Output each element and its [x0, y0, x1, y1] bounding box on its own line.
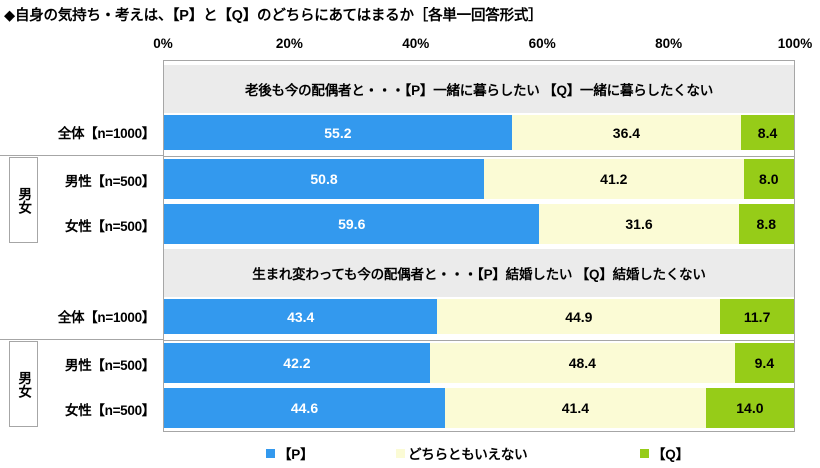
- legend-item-neither[interactable]: どちらともいえない: [396, 443, 527, 463]
- bar-seg-neither-s2-total: 44.9: [437, 299, 720, 334]
- row-label-s1-female: 女性【n=500】: [65, 215, 155, 235]
- bar-row-s2-male: 42.2 48.4 9.4: [164, 343, 794, 383]
- bar-seg-p-s2-male: 42.2: [164, 343, 430, 383]
- group-divider-s1: [0, 155, 163, 156]
- legend-label-q: 【Q】: [652, 443, 689, 463]
- bar-seg-p-s1-total: 55.2: [164, 115, 512, 150]
- bar-row-s1-female: 59.6 31.6 8.8: [164, 204, 794, 244]
- x-axis-tick-60: 60%: [529, 36, 556, 51]
- row-label-s1-male: 男性【n=500】: [65, 170, 155, 190]
- x-axis-tick-40: 40%: [402, 36, 429, 51]
- bar-seg-q-s1-female: 8.8: [739, 204, 794, 244]
- page-title: ◆自身の気持ち・考えは、【P】と【Q】のどちらにあてはまるか［各単一回答形式］: [4, 4, 542, 25]
- legend-swatch-p-icon: [266, 449, 275, 458]
- x-axis-labels: 0% 20% 40% 60% 80% 100%: [163, 36, 795, 56]
- x-axis-tick-80: 80%: [655, 36, 682, 51]
- group-bracket-s1: 男女: [9, 157, 38, 243]
- plot-group-divider-s2: [164, 340, 794, 341]
- row-label-s2-male: 男性【n=500】: [65, 354, 155, 374]
- section-header-1: 老後も今の配偶者と・・・【P】一緒に暮らしたい 【Q】一緒に暮らしたくない: [164, 65, 794, 113]
- row-label-s2-female: 女性【n=500】: [65, 399, 155, 419]
- section-header-2: 生まれ変わっても今の配偶者と・・・【P】結婚したい 【Q】結婚したくない: [164, 249, 794, 297]
- group-bracket-label-s2: 男女: [17, 371, 31, 398]
- section-header-2-label: 生まれ変わっても今の配偶者と・・・【P】結婚したい 【Q】結婚したくない: [252, 263, 705, 283]
- bar-row-s1-male: 50.8 41.2 8.0: [164, 159, 794, 199]
- legend-item-q[interactable]: 【Q】: [640, 443, 689, 463]
- chart-plot-area: 老後も今の配偶者と・・・【P】一緒に暮らしたい 【Q】一緒に暮らしたくない 55…: [163, 60, 795, 432]
- bar-seg-neither-s2-male: 48.4: [430, 343, 735, 383]
- group-divider-s2: [0, 339, 163, 340]
- row-label-s1-total: 全体【n=1000】: [58, 122, 155, 142]
- bar-seg-q-s1-male: 8.0: [744, 159, 794, 199]
- bar-seg-neither-s2-female: 41.4: [445, 388, 706, 428]
- bar-seg-q-s2-female: 14.0: [706, 388, 794, 428]
- legend-swatch-neither-icon: [396, 449, 405, 458]
- legend-item-p[interactable]: 【P】: [266, 443, 313, 463]
- bar-row-s2-total: 43.4 44.9 11.7: [164, 299, 794, 334]
- bar-seg-p-s2-total: 43.4: [164, 299, 437, 334]
- bar-row-s2-female: 44.6 41.4 14.0: [164, 388, 794, 428]
- legend-swatch-q-icon: [640, 449, 649, 458]
- bar-seg-q-s2-total: 11.7: [720, 299, 794, 334]
- bar-seg-p-s2-female: 44.6: [164, 388, 445, 428]
- bar-seg-neither-s1-total: 36.4: [512, 115, 741, 150]
- legend-label-neither: どちらともいえない: [408, 443, 527, 463]
- legend-label-p: 【P】: [278, 443, 313, 463]
- section-header-1-label: 老後も今の配偶者と・・・【P】一緒に暮らしたい 【Q】一緒に暮らしたくない: [245, 79, 713, 99]
- bar-seg-p-s1-female: 59.6: [164, 204, 539, 244]
- x-axis-tick-100: 100%: [778, 36, 813, 51]
- x-axis-tick-0: 0%: [153, 36, 173, 51]
- plot-group-divider-s1: [164, 156, 794, 157]
- chart-legend: 【P】 どちらともいえない 【Q】: [0, 443, 820, 465]
- bar-seg-q-s2-male: 9.4: [735, 343, 794, 383]
- bar-seg-neither-s1-male: 41.2: [484, 159, 744, 199]
- bar-seg-p-s1-male: 50.8: [164, 159, 484, 199]
- row-label-s2-total: 全体【n=1000】: [58, 306, 155, 326]
- x-axis-tick-20: 20%: [276, 36, 303, 51]
- bar-row-s1-total: 55.2 36.4 8.4: [164, 115, 794, 150]
- group-bracket-label-s1: 男女: [17, 187, 31, 214]
- group-bracket-s2: 男女: [9, 341, 38, 427]
- bar-seg-q-s1-total: 8.4: [741, 115, 794, 150]
- bar-seg-neither-s1-female: 31.6: [539, 204, 738, 244]
